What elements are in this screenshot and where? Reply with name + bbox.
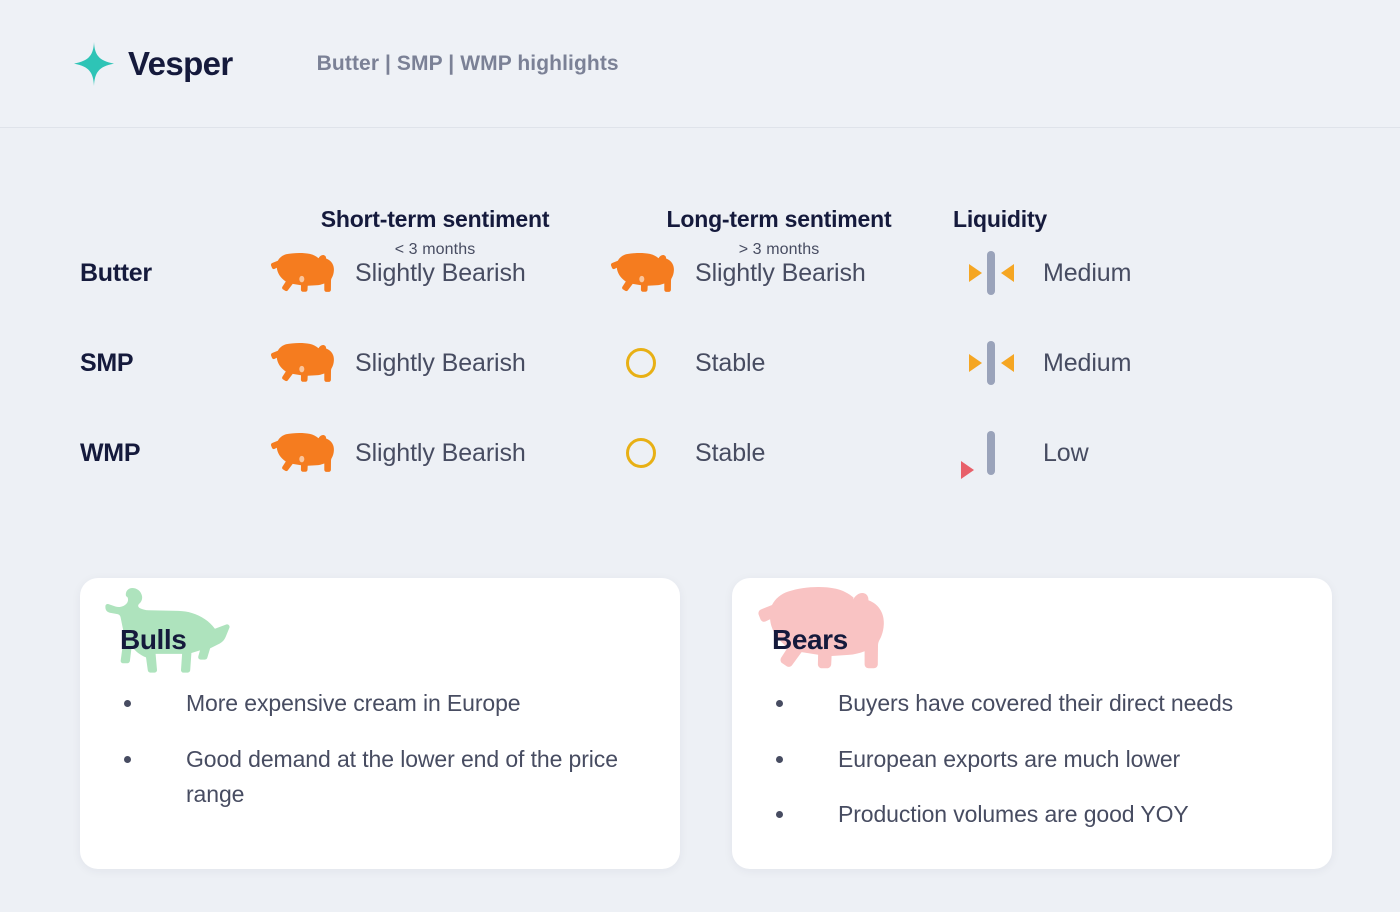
page-header: Vesper Butter | SMP | WMP highlights	[0, 0, 1400, 128]
bears-card-title: Bears	[772, 624, 848, 656]
highlights-page: Vesper Butter | SMP | WMP highlights Sho…	[0, 0, 1400, 912]
gauge-bar	[987, 251, 995, 295]
gauge-bar	[987, 431, 995, 475]
bears-card: Bears Buyers have covered their direct n…	[732, 578, 1332, 869]
gauge-medium-icon	[953, 335, 1025, 391]
bears-list: Buyers have covered their direct needs E…	[732, 686, 1332, 869]
cell-butter-liquidity: Medium	[953, 245, 1300, 301]
table-row: WMP Slightly Bearish Stable	[0, 408, 1400, 498]
brand-logo[interactable]: Vesper	[74, 42, 233, 86]
bulls-list: More expensive cream in Europe Good dema…	[80, 686, 680, 849]
list-item: More expensive cream in Europe	[124, 686, 636, 722]
cell-value-butter-short-term: Slightly Bearish	[355, 259, 526, 288]
cell-value-smp-short-term: Slightly Bearish	[355, 349, 526, 378]
circle-ring-icon	[605, 340, 677, 386]
cell-smp-short-term: Slightly Bearish	[265, 340, 605, 386]
bear-icon	[265, 430, 337, 476]
sparkle-star-icon	[74, 42, 114, 86]
bear-icon	[265, 340, 337, 386]
column-header-short-term-title: Short-term sentiment	[265, 206, 605, 234]
cell-value-smp-long-term: Stable	[695, 349, 765, 378]
row-label-smp: SMP	[0, 349, 265, 378]
cell-value-butter-long-term: Slightly Bearish	[695, 259, 866, 288]
row-label-wmp: WMP	[0, 439, 265, 468]
bulls-card-header: Bulls	[80, 578, 680, 686]
triangle-right-icon	[969, 354, 982, 372]
matrix-header-row: Short-term sentiment < 3 months Long-ter…	[0, 128, 1400, 228]
triangle-left-icon	[1001, 264, 1014, 282]
triangle-right-icon	[961, 461, 974, 479]
row-label-butter: Butter	[0, 259, 265, 288]
cell-value-wmp-short-term: Slightly Bearish	[355, 439, 526, 468]
list-item: Production volumes are good YOY	[776, 797, 1288, 833]
column-header-liquidity-title: Liquidity	[953, 206, 1300, 234]
bears-card-header: Bears	[732, 578, 1332, 686]
bulls-card-title: Bulls	[120, 624, 186, 656]
gauge-bar	[987, 341, 995, 385]
gauge-low-icon	[953, 425, 1025, 481]
column-header-liquidity: Liquidity	[953, 206, 1300, 234]
list-item: Good demand at the lower end of the pric…	[124, 742, 636, 813]
list-item: Buyers have covered their direct needs	[776, 686, 1288, 722]
cell-value-smp-liquidity: Medium	[1043, 349, 1131, 378]
bear-icon	[605, 250, 677, 296]
cell-wmp-short-term: Slightly Bearish	[265, 430, 605, 476]
gauge-medium-icon	[953, 245, 1025, 301]
column-header-long-term-title: Long-term sentiment	[605, 206, 953, 234]
cell-wmp-long-term: Stable	[605, 430, 953, 476]
sentiment-matrix: Short-term sentiment < 3 months Long-ter…	[0, 128, 1400, 498]
cell-smp-long-term: Stable	[605, 340, 953, 386]
cell-wmp-liquidity: Low	[953, 425, 1300, 481]
cell-value-butter-liquidity: Medium	[1043, 259, 1131, 288]
insight-cards: Bulls More expensive cream in Europe Goo…	[0, 578, 1400, 869]
cell-value-wmp-long-term: Stable	[695, 439, 765, 468]
cell-value-wmp-liquidity: Low	[1043, 439, 1089, 468]
table-row: SMP Slightly Bearish Stable	[0, 318, 1400, 408]
header-subtitle: Butter | SMP | WMP highlights	[317, 52, 619, 76]
bear-icon	[265, 250, 337, 296]
triangle-right-icon	[969, 264, 982, 282]
cell-butter-long-term: Slightly Bearish	[605, 250, 953, 296]
cell-butter-short-term: Slightly Bearish	[265, 250, 605, 296]
cell-smp-liquidity: Medium	[953, 335, 1300, 391]
list-item: European exports are much lower	[776, 742, 1288, 778]
circle-ring-icon	[605, 430, 677, 476]
bulls-card: Bulls More expensive cream in Europe Goo…	[80, 578, 680, 869]
triangle-left-icon	[1001, 354, 1014, 372]
brand-name: Vesper	[128, 45, 233, 83]
